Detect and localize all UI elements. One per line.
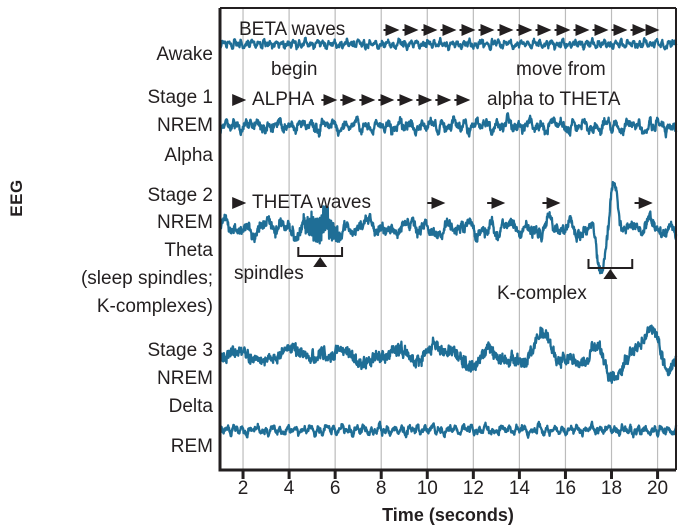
stage-label: NREM bbox=[157, 213, 213, 232]
x-tick-label: 20 bbox=[638, 478, 678, 500]
x-tick-label: 16 bbox=[545, 478, 585, 500]
x-tick-label: 6 bbox=[315, 478, 355, 500]
theta-waves-label: THETA waves bbox=[252, 193, 371, 212]
spindles-label: spindles bbox=[234, 264, 304, 283]
stage-label: Delta bbox=[169, 397, 213, 416]
x-axis-title: Time (seconds) bbox=[220, 505, 676, 526]
stage-label: Stage 2 bbox=[148, 186, 214, 205]
x-tick-label: 10 bbox=[407, 478, 447, 500]
x-tick-label: 2 bbox=[223, 478, 263, 500]
x-tick-label: 18 bbox=[592, 478, 632, 500]
stage-label: NREM bbox=[157, 369, 213, 388]
beta-waves-label: BETA waves bbox=[239, 20, 345, 39]
stage-label: Stage 3 bbox=[148, 341, 214, 360]
stage-label: REM bbox=[171, 437, 213, 456]
bracket-markers bbox=[298, 247, 632, 279]
y-axis-title: EEG bbox=[7, 163, 27, 233]
x-tick-label: 8 bbox=[361, 478, 401, 500]
x-tick-label: 12 bbox=[453, 478, 493, 500]
stage-label: Alpha bbox=[164, 146, 213, 165]
stage-label: (sleep spindles; bbox=[81, 269, 213, 288]
stage-label: Stage 1 bbox=[148, 88, 214, 107]
stage-label: K-complexes) bbox=[97, 297, 213, 316]
x-tick-label: 14 bbox=[499, 478, 539, 500]
k-complex-label: K-complex bbox=[497, 284, 587, 303]
move-from-label: move from bbox=[516, 60, 606, 79]
alpha-label: ALPHA bbox=[252, 90, 314, 109]
x-tick-label: 4 bbox=[269, 478, 309, 500]
begin-label: begin bbox=[271, 60, 318, 79]
stage-label: Theta bbox=[164, 241, 213, 260]
annotation-arrows bbox=[233, 30, 658, 203]
stage-label: NREM bbox=[157, 116, 213, 135]
eeg-figure: EEG AwakeStage 1NREMAlphaStage 2NREMThet… bbox=[0, 0, 700, 532]
alpha-to-theta-label: alpha to THETA bbox=[487, 90, 620, 109]
stage-label: Awake bbox=[156, 45, 213, 64]
